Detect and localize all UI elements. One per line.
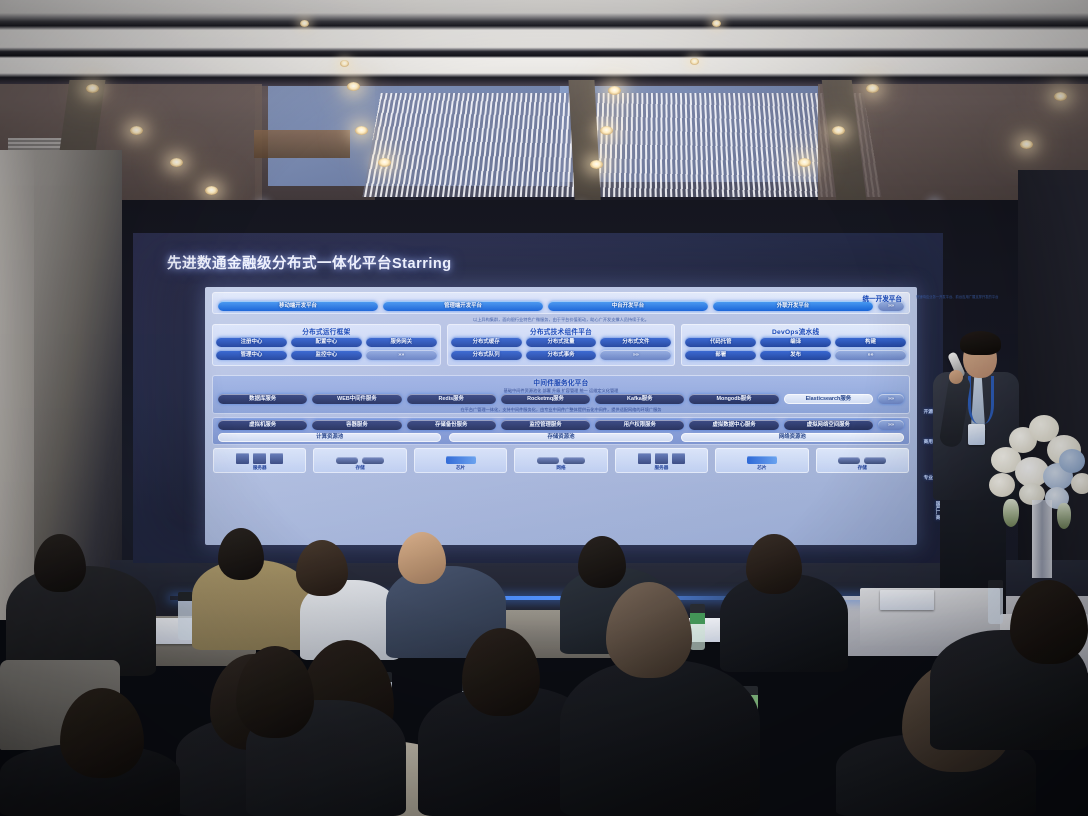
ceiling-downlight xyxy=(712,20,721,27)
pill-virtual-network-service[interactable]: 虚拟网络空间服务 xyxy=(784,420,873,430)
pill-runtime-more[interactable]: »» xyxy=(366,350,437,360)
pill-build[interactable]: 构建 xyxy=(835,337,906,347)
middleware-footnote: 在平台广管理一体化，支持中间件服务化，由专业中间件广整体提供云化中间件，提供适配… xyxy=(212,407,910,414)
hardware-label-storage-2: 存储 xyxy=(819,465,906,471)
pill-release[interactable]: 发布 xyxy=(760,350,831,360)
audience-head xyxy=(60,688,144,778)
pill-midplatform-dev[interactable]: 中台开发平台 xyxy=(548,301,708,311)
hardware-label-server: 服务器 xyxy=(216,465,303,471)
pill-middleware-more[interactable]: »» xyxy=(878,394,904,404)
dev-platform-items: 移动端开发平台 管理端开发平台 中台开发平台 外联开发平台 »» xyxy=(212,301,910,314)
pool-network[interactable]: 网络资源池 xyxy=(681,433,904,442)
runtime-footnote xyxy=(205,366,917,373)
ceiling-spotlight xyxy=(608,86,621,95)
ceiling-slat-panel xyxy=(362,93,881,197)
dev-platform-footnote: 以上异构集群，面向银行业特色广微服务，由于平台价值驱动，助心广开发支撑人员持续于… xyxy=(205,317,917,324)
hardware-card: 芯片 xyxy=(715,448,808,473)
hardware-card: 芯片 xyxy=(414,448,507,473)
ceiling-spotlight xyxy=(378,158,391,167)
ceiling-spotlight xyxy=(347,82,360,91)
middleware-band: 中间件服务化平台 基础中间件资源池化 部署 升级 扩容管理 统一 运维定义化管理… xyxy=(212,375,910,415)
hardware-card: 存储 xyxy=(313,448,406,473)
hardware-label-network: 网络 xyxy=(517,465,604,471)
middleware-header: 中间件服务化平台 xyxy=(212,375,910,388)
ceiling-downlight xyxy=(690,58,699,65)
tech-components-header: 分布式技术组件平台 xyxy=(447,324,676,337)
pill-service-gateway[interactable]: 服务网关 xyxy=(366,337,437,347)
devops-col: DevOps流水线 代码托管 编译 构建 部署 发布 »» xyxy=(681,324,910,366)
ceiling-spotlight xyxy=(798,158,811,167)
conference-photo: 先进数通金融级分布式一体化平台Starring 统一开发平台 快速响应业务一开发… xyxy=(0,0,1088,816)
ceiling-spotlight xyxy=(832,126,845,135)
flower-vase xyxy=(1032,500,1052,578)
badge xyxy=(968,424,985,445)
ceiling-spotlight xyxy=(130,126,143,135)
pill-mongodb-service[interactable]: Mongodb服务 xyxy=(689,394,778,404)
middleware-items: 数据库服务 WEB中间件服务 Redis服务 Rocketmq服务 Kafka服… xyxy=(212,394,910,407)
pill-redis-service[interactable]: Redis服务 xyxy=(407,394,496,404)
hardware-label-chip: 芯片 xyxy=(417,465,504,471)
hardware-label-server-2: 服务器 xyxy=(618,465,705,471)
water-bottle xyxy=(988,580,1003,624)
ceiling-spotlight xyxy=(600,126,613,135)
ceiling-spotlight xyxy=(355,126,368,135)
pill-dist-file[interactable]: 分布式文件 xyxy=(600,337,671,347)
pool-compute[interactable]: 计算资源池 xyxy=(218,433,441,442)
pill-web-middleware-service[interactable]: WEB中间件服务 xyxy=(312,394,401,404)
pill-monitor-center[interactable]: 监控中心 xyxy=(291,350,362,360)
ceiling-spotlight xyxy=(1020,140,1033,149)
ceiling-downlight xyxy=(300,20,309,27)
hardware-row: 服务器 存储 芯片 网络 服务器 xyxy=(205,448,917,477)
left-wall-panel xyxy=(0,150,34,620)
pill-external-dev[interactable]: 外联开发平台 xyxy=(713,301,873,311)
ceiling xyxy=(0,0,1088,215)
pill-vm-service[interactable]: 虚拟机服务 xyxy=(218,420,307,430)
slide-diagram: 统一开发平台 快速响应业务一开发平台、前台应用广展支撑开发的平台 移动端开发平台… xyxy=(205,287,917,545)
pill-code-hosting[interactable]: 代码托管 xyxy=(685,337,756,347)
pool-storage[interactable]: 存储资源池 xyxy=(449,433,672,442)
water-bottle xyxy=(690,604,705,650)
hardware-label-chip-2: 芯片 xyxy=(718,465,805,471)
pill-user-permission-service[interactable]: 用户权限服务 xyxy=(595,420,684,430)
audience-head xyxy=(236,646,314,738)
pill-database-service[interactable]: 数据库服务 xyxy=(218,394,307,404)
virtualization-items: 虚拟机服务 容器服务 存储备份服务 监控管理服务 用户权限服务 虚拟数据中心服务… xyxy=(212,417,910,433)
devops-header: DevOps流水线 xyxy=(681,324,910,337)
hardware-card: 存储 xyxy=(816,448,909,473)
pill-deploy[interactable]: 部署 xyxy=(685,350,756,360)
pill-mobile-dev[interactable]: 移动端开发平台 xyxy=(218,301,378,311)
ceiling-spotlight xyxy=(1054,92,1067,101)
hardware-label-storage: 存储 xyxy=(316,465,403,471)
runtime-framework-col: 分布式运行框架 注册中心 配置中心 服务网关 管理中心 监控中心 »» xyxy=(212,324,441,366)
pill-tech-more[interactable]: »» xyxy=(600,350,671,360)
pill-admin-center[interactable]: 管理中心 xyxy=(216,350,287,360)
slide-title: 先进数通金融级分布式一体化平台Starring xyxy=(167,252,452,273)
virtualization-band: 虚拟机服务 容器服务 存储备份服务 监控管理服务 用户权限服务 虚拟数据中心服务… xyxy=(212,417,910,445)
pill-elasticsearch-service[interactable]: Elasticsearch服务 xyxy=(784,394,873,404)
water-bottle xyxy=(178,592,193,640)
pill-compile[interactable]: 编译 xyxy=(760,337,831,347)
ceiling-spotlight xyxy=(205,186,218,195)
pill-container-service[interactable]: 容器服务 xyxy=(312,420,401,430)
ceiling-downlight xyxy=(340,60,349,67)
speaker-hair xyxy=(960,331,1001,355)
pill-admin-dev[interactable]: 管理端开发平台 xyxy=(383,301,543,311)
pill-monitor-mgmt-service[interactable]: 监控管理服务 xyxy=(501,420,590,430)
pill-rocketmq-service[interactable]: Rocketmq服务 xyxy=(501,394,590,404)
pill-dist-transaction[interactable]: 分布式事务 xyxy=(526,350,597,360)
tech-components-col: 分布式技术组件平台 分布式缓存 分布式批量 分布式文件 分布式队列 分布式事务 … xyxy=(447,324,676,366)
pill-dist-batch[interactable]: 分布式批量 xyxy=(526,337,597,347)
hardware-card: 网络 xyxy=(514,448,607,473)
dev-platform-header: 统一开发平台 xyxy=(862,293,902,303)
pill-dist-cache[interactable]: 分布式缓存 xyxy=(451,337,522,347)
pill-dist-queue[interactable]: 分布式队列 xyxy=(451,350,522,360)
pill-registry-center[interactable]: 注册中心 xyxy=(216,337,287,347)
pill-virtual-datacenter-service[interactable]: 虚拟数据中心服务 xyxy=(689,420,778,430)
dev-platform-band: 统一开发平台 快速响应业务一开发平台、前台应用广展支撑开发的平台 移动端开发平台… xyxy=(212,292,910,314)
audience-person xyxy=(560,660,760,816)
ceiling-spotlight xyxy=(866,84,879,93)
pill-kafka-service[interactable]: Kafka服务 xyxy=(595,394,684,404)
middleware-header-note: 基础中间件资源池化 部署 升级 扩容管理 统一 运维定义化管理 xyxy=(212,388,910,394)
name-card xyxy=(880,590,934,610)
speaker-hand xyxy=(949,370,963,384)
pill-virtualization-more[interactable]: »» xyxy=(878,420,904,430)
right-wall xyxy=(1018,170,1088,600)
pill-config-center[interactable]: 配置中心 xyxy=(291,337,362,347)
pill-devops-more[interactable]: »» xyxy=(835,350,906,360)
hardware-card: 服务器 xyxy=(213,448,306,473)
ceiling-spotlight xyxy=(86,84,99,93)
runtime-framework-header: 分布式运行框架 xyxy=(212,324,441,337)
resource-pools: 计算资源池 存储资源池 网络资源池 xyxy=(212,433,910,445)
hardware-card: 服务器 xyxy=(615,448,708,473)
projection-screen: 先进数通金融级分布式一体化平台Starring 统一开发平台 快速响应业务一开发… xyxy=(133,233,943,563)
pill-storage-backup-service[interactable]: 存储备份服务 xyxy=(407,420,496,430)
ceiling-spotlight xyxy=(590,160,603,169)
ceiling-spotlight xyxy=(170,158,183,167)
middle-columns: 分布式运行框架 注册中心 配置中心 服务网关 管理中心 监控中心 »» 分布式技… xyxy=(205,324,917,366)
